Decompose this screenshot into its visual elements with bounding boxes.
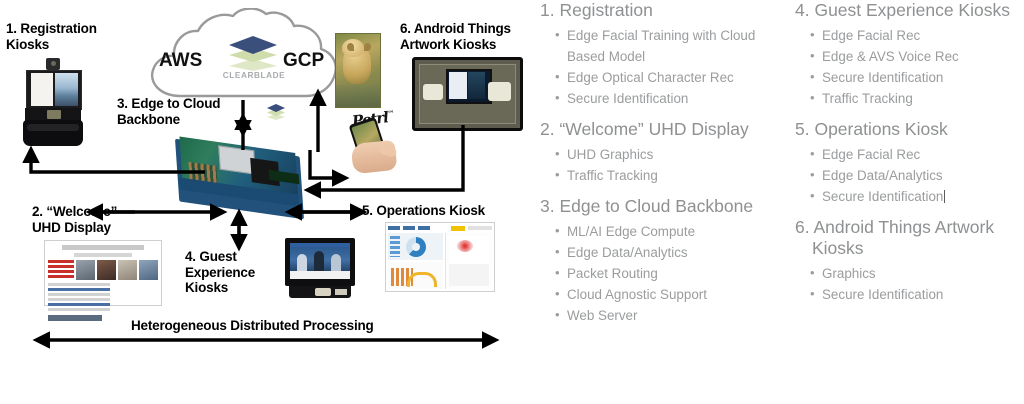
feature-bullet-text: ML/AI Edge Compute: [567, 224, 695, 239]
feature-section-welcome-uhd-display: 2. “Welcome” UHD DisplayUHD GraphicsTraf…: [540, 119, 790, 186]
label-edge-to-cloud-line2: Backbone: [117, 112, 220, 128]
feature-bullet: Edge & AVS Voice Rec: [795, 46, 1023, 67]
feature-bullet: Edge Facial Training with Cloud Based Mo…: [540, 25, 790, 67]
feature-bullet-text: Edge Optical Character Rec: [567, 70, 734, 85]
label-guest-experience-kiosks: 4. Guest Experience Kiosks: [185, 249, 255, 296]
feature-heading-operations-kiosk: 5. Operations Kiosk: [795, 119, 1023, 140]
feature-bullet-text: Web Server: [567, 308, 637, 323]
feature-bullet-text: UHD Graphics: [567, 147, 653, 162]
feature-bullet: Edge Optical Character Rec: [540, 67, 790, 88]
label-registration-kiosks: 1. Registration Kiosks: [6, 21, 97, 52]
label-operations-kiosk: 5. Operations Kiosk: [362, 203, 485, 219]
label-welcome-uhd-display: 2. “Welcome” UHD Display: [32, 204, 117, 235]
label-android-things-line1: 6. Android Things: [400, 21, 511, 37]
feature-bullet: Secure Identification: [540, 88, 790, 109]
feature-column-left: 1. RegistrationEdge Facial Training with…: [540, 0, 790, 336]
feature-bullet-text: Secure Identification: [822, 287, 943, 302]
feature-bullet-list-welcome-uhd-display: UHD GraphicsTraffic Tracking: [540, 144, 790, 186]
feature-bullet: Edge Facial Rec: [795, 25, 1023, 46]
label-guest-experience-line2: Experience: [185, 265, 255, 281]
label-registration-kiosks-line2: Kiosks: [6, 37, 97, 53]
feature-bullet-list-android-things-artwork-kiosks: GraphicsSecure Identification: [795, 263, 1023, 305]
feature-bullet-text: Edge Facial Rec: [822, 28, 920, 43]
feature-bullet: Graphics: [795, 263, 1023, 284]
label-guest-experience-line3: Kiosks: [185, 280, 255, 296]
feature-bullet: ML/AI Edge Compute: [540, 221, 790, 242]
feature-bullet-list-operations-kiosk: Edge Facial RecEdge Data/AnalyticsSecure…: [795, 144, 1023, 207]
feature-section-guest-experience-kiosks: 4. Guest Experience KiosksEdge Facial Re…: [795, 0, 1023, 109]
label-android-things-line2: Artwork Kiosks: [400, 37, 511, 53]
feature-heading-welcome-uhd-display: 2. “Welcome” UHD Display: [540, 119, 790, 140]
feature-bullet: Secure Identification: [795, 67, 1023, 88]
arrow-layer: [0, 0, 535, 404]
feature-bullet: Cloud Agnostic Support: [540, 284, 790, 305]
feature-bullet: UHD Graphics: [540, 144, 790, 165]
feature-bullet-text: Edge Data/Analytics: [822, 168, 943, 183]
feature-bullet-text: Edge Facial Rec: [822, 147, 920, 162]
label-heterogeneous-distributed-processing: Heterogeneous Distributed Processing: [131, 318, 374, 334]
feature-heading-registration: 1. Registration: [540, 0, 790, 21]
label-welcome-uhd-line2: UHD Display: [32, 220, 117, 236]
feature-bullet-text: Edge Facial Training with Cloud Based Mo…: [567, 28, 755, 64]
feature-bullet: Secure Identification: [795, 186, 1023, 207]
feature-bullet: Web Server: [540, 305, 790, 326]
feature-heading-edge-to-cloud-backbone: 3. Edge to Cloud Backbone: [540, 196, 790, 217]
label-edge-to-cloud-backbone: 3. Edge to Cloud Backbone: [117, 96, 220, 127]
feature-bullet-text: Traffic Tracking: [822, 91, 913, 106]
feature-bullet: Secure Identification: [795, 284, 1023, 305]
feature-bullet-text: Edge & AVS Voice Rec: [822, 49, 959, 64]
arrow-android-kiosk-to-board: [313, 125, 463, 190]
feature-bullet-text: Secure Identification: [822, 189, 943, 204]
feature-bullet-text: Traffic Tracking: [567, 168, 658, 183]
feature-bullet-list-guest-experience-kiosks: Edge Facial RecEdge & AVS Voice RecSecur…: [795, 25, 1023, 109]
feature-column-right: 4. Guest Experience KiosksEdge Facial Re…: [795, 0, 1023, 315]
label-guest-experience-line1: 4. Guest: [185, 249, 255, 265]
label-registration-kiosks-line1: 1. Registration: [6, 21, 97, 37]
feature-bullet-list-edge-to-cloud-backbone: ML/AI Edge ComputeEdge Data/AnalyticsPac…: [540, 221, 790, 326]
arrow-board-to-phone: [310, 150, 340, 178]
feature-section-registration: 1. RegistrationEdge Facial Training with…: [540, 0, 790, 109]
feature-bullet: Edge Data/Analytics: [540, 242, 790, 263]
feature-section-edge-to-cloud-backbone: 3. Edge to Cloud BackboneML/AI Edge Comp…: [540, 196, 790, 326]
feature-bullet: Traffic Tracking: [540, 165, 790, 186]
feature-bullet-list-registration: Edge Facial Training with Cloud Based Mo…: [540, 25, 790, 109]
label-welcome-uhd-line1: 2. “Welcome”: [32, 204, 117, 220]
arrow-board-to-registration: [31, 155, 205, 172]
label-edge-to-cloud-line1: 3. Edge to Cloud: [117, 96, 220, 112]
feature-bullet: Edge Data/Analytics: [795, 165, 1023, 186]
feature-section-android-things-artwork-kiosks: 6. Android Things Artwork KiosksGraphics…: [795, 217, 1023, 305]
feature-bullet: Packet Routing: [540, 263, 790, 284]
architecture-diagram: AWS GCP CLEARBLADE: [0, 0, 535, 404]
feature-section-operations-kiosk: 5. Operations KioskEdge Facial RecEdge D…: [795, 119, 1023, 207]
feature-bullet-text: Graphics: [822, 266, 876, 281]
feature-bullet: Traffic Tracking: [795, 88, 1023, 109]
feature-bullet-text: Cloud Agnostic Support: [567, 287, 707, 302]
label-android-things-artwork-kiosks: 6. Android Things Artwork Kiosks: [400, 21, 511, 52]
text-cursor-caret: [944, 190, 945, 203]
feature-bullet-text: Edge Data/Analytics: [567, 245, 688, 260]
feature-bullet: Edge Facial Rec: [795, 144, 1023, 165]
feature-bullet-text: Secure Identification: [567, 91, 688, 106]
feature-bullet-text: Packet Routing: [567, 266, 658, 281]
feature-heading-android-things-artwork-kiosks: 6. Android Things Artwork Kiosks: [795, 217, 1023, 259]
feature-bullet-text: Secure Identification: [822, 70, 943, 85]
feature-heading-guest-experience-kiosks: 4. Guest Experience Kiosks: [795, 0, 1023, 21]
slide-canvas: AWS GCP CLEARBLADE: [0, 0, 1024, 404]
